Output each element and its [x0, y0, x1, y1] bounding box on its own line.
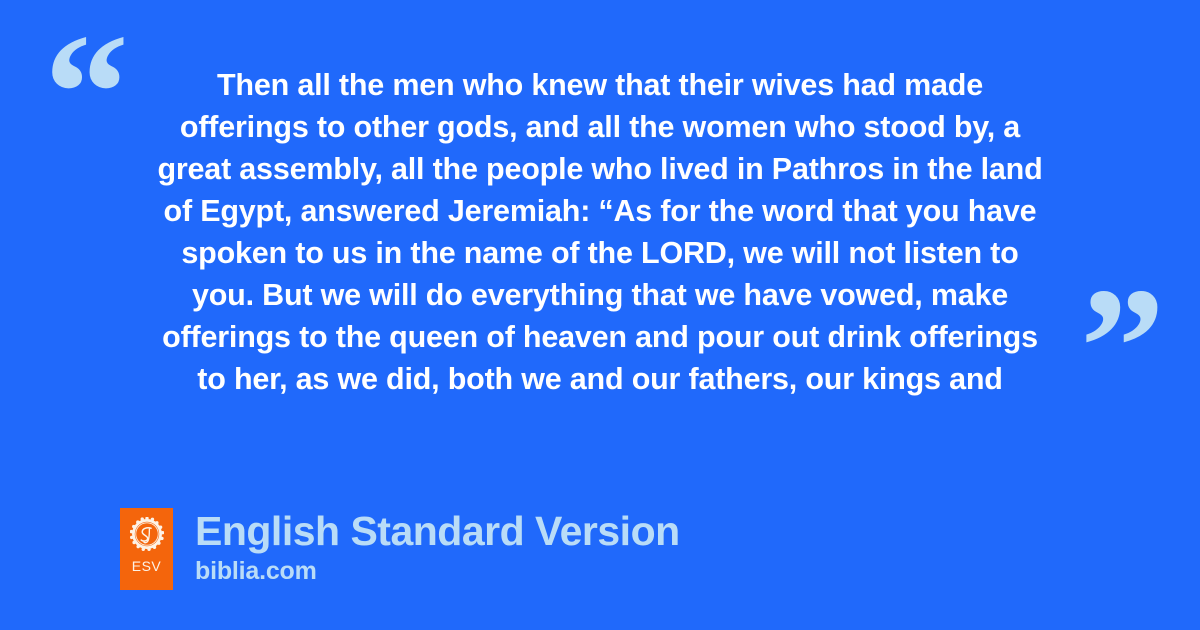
verse-line: spoken to us in the name of the LORD, we… — [108, 232, 1092, 274]
verse-line: to her, as we did, both we and our fathe… — [108, 358, 1092, 400]
esv-seal-icon — [130, 517, 164, 551]
esv-abbreviation-label: ESV — [132, 559, 162, 573]
closing-quote-icon: ” — [1080, 262, 1163, 432]
verse-line: great assembly, all the people who lived… — [108, 148, 1092, 190]
verse-line: you. But we will do everything that we h… — [108, 274, 1092, 316]
bible-verse-poster: “ ” Then all the men who knew that their… — [0, 0, 1200, 630]
verse-line: offerings to other gods, and all the wom… — [108, 106, 1092, 148]
verse-line: offerings to the queen of heaven and pou… — [108, 316, 1092, 358]
attribution-footer: ESV English Standard Version biblia.com — [120, 508, 680, 590]
verse-line: of Egypt, answered Jeremiah: “As for the… — [108, 190, 1092, 232]
bible-version-name: English Standard Version — [195, 508, 680, 554]
attribution-text-group: English Standard Version biblia.com — [195, 508, 680, 586]
site-url-label[interactable]: biblia.com — [195, 556, 680, 586]
verse-text-block: Then all the men who knew that their wiv… — [108, 64, 1092, 400]
esv-badge: ESV — [120, 508, 173, 590]
verse-line: Then all the men who knew that their wiv… — [108, 64, 1092, 106]
